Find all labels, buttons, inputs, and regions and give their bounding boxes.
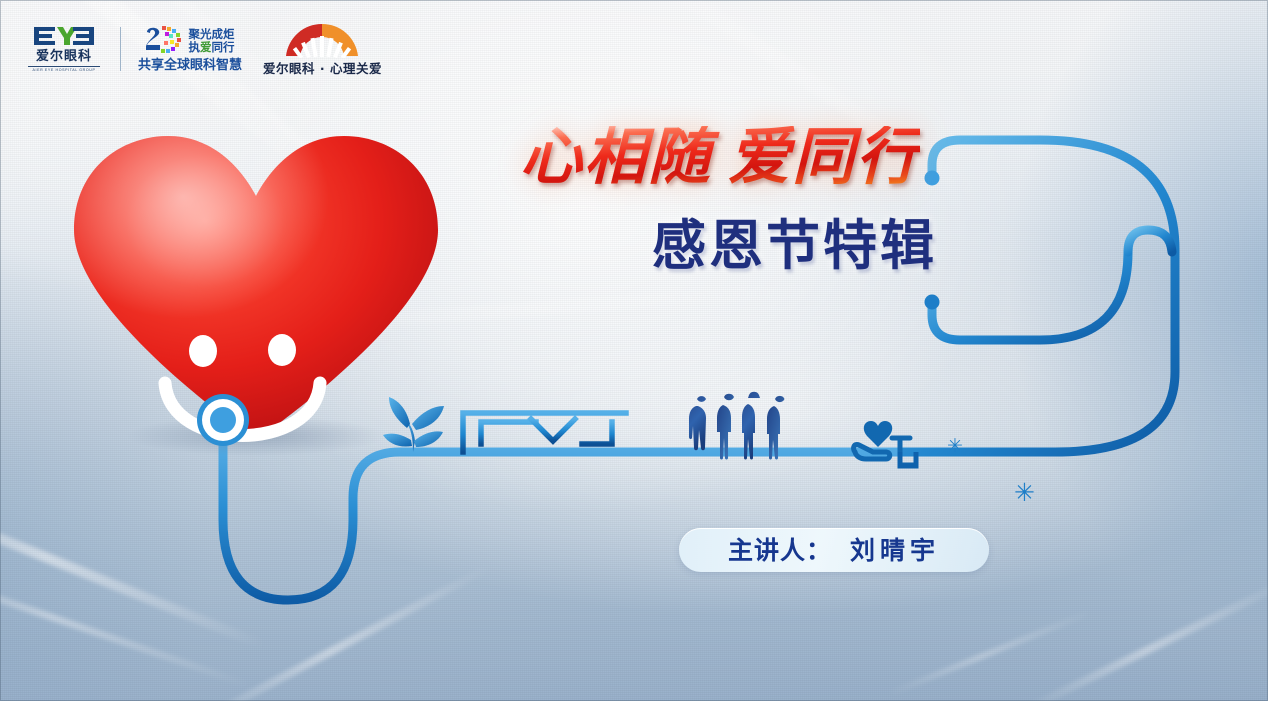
speaker-name: 刘晴宇 bbox=[850, 538, 940, 563]
eye-lineart-logo bbox=[463, 413, 626, 452]
chestpiece-center bbox=[210, 407, 236, 433]
anniversary-logo: 聚光成炬 执爱同行 共享全球眼科智慧 bbox=[135, 25, 245, 72]
logo-bar: 爱尔眼科 AIER EYE HOSPITAL GROUP bbox=[20, 22, 382, 76]
anniversary-number-icon bbox=[146, 25, 184, 55]
stethoscope-earpiece-top bbox=[902, 140, 1175, 452]
anniversary-tagline: 共享全球眼科智慧 bbox=[138, 59, 242, 72]
page-title-part1: 心相随 bbox=[520, 120, 712, 193]
logo-divider bbox=[120, 27, 121, 71]
stethoscope-chestpiece-icon bbox=[195, 392, 255, 457]
stethoscope-earpiece-joint bbox=[1128, 230, 1172, 252]
person-4 bbox=[767, 396, 785, 460]
page-subtitle: 感恩节特辑 bbox=[652, 219, 937, 273]
aier-eye-logo: 爱尔眼科 AIER EYE HOSPITAL GROUP bbox=[20, 25, 108, 73]
anniversary-slogan-line2: 执爱同行 bbox=[189, 41, 235, 53]
four-people-silhouette bbox=[672, 385, 802, 470]
person-2 bbox=[717, 394, 734, 460]
aier-eye-logo-micro: AIER EYE HOSPITAL GROUP bbox=[28, 66, 100, 73]
eye-wordmark-icon bbox=[33, 25, 95, 47]
sunrise-arc-icon bbox=[279, 22, 365, 58]
heart-eye-right bbox=[268, 334, 296, 366]
sparkle-small-icon: ✳ bbox=[947, 437, 963, 456]
sparkle-large-icon: ✳ bbox=[1014, 481, 1035, 506]
heart-eye-left bbox=[189, 335, 217, 367]
psychology-care-name: 爱尔眼科 · 心理关爱 bbox=[263, 63, 382, 76]
hand-holding-heart-icon bbox=[854, 421, 916, 465]
speaker-label: 主讲人： bbox=[728, 538, 832, 563]
stethoscope-earpiece-bottom bbox=[932, 252, 1128, 340]
person-3 bbox=[742, 392, 760, 460]
smiling-heart-icon bbox=[60, 118, 460, 468]
page-title: 心相随爱同行 bbox=[520, 126, 920, 188]
poster-canvas: ✳ ✳ 爱尔眼科 AIER EYE HOSPITAL GROUP bbox=[0, 0, 1268, 701]
aier-eye-logo-mark bbox=[33, 25, 95, 47]
earpiece-tip-bottom bbox=[925, 295, 940, 310]
speaker-badge: 主讲人： 刘晴宇 bbox=[679, 528, 989, 572]
anniversary-slogan-line1: 聚光成炬 bbox=[189, 28, 235, 40]
psychology-care-logo: 爱尔眼科 · 心理关爱 bbox=[263, 22, 382, 76]
aier-eye-logo-chinese: 爱尔眼科 bbox=[36, 50, 92, 63]
person-1 bbox=[689, 396, 706, 450]
earpiece-tip-top bbox=[925, 171, 940, 186]
heart-highlight bbox=[74, 136, 438, 440]
page-title-part2: 爱同行 bbox=[728, 120, 920, 193]
